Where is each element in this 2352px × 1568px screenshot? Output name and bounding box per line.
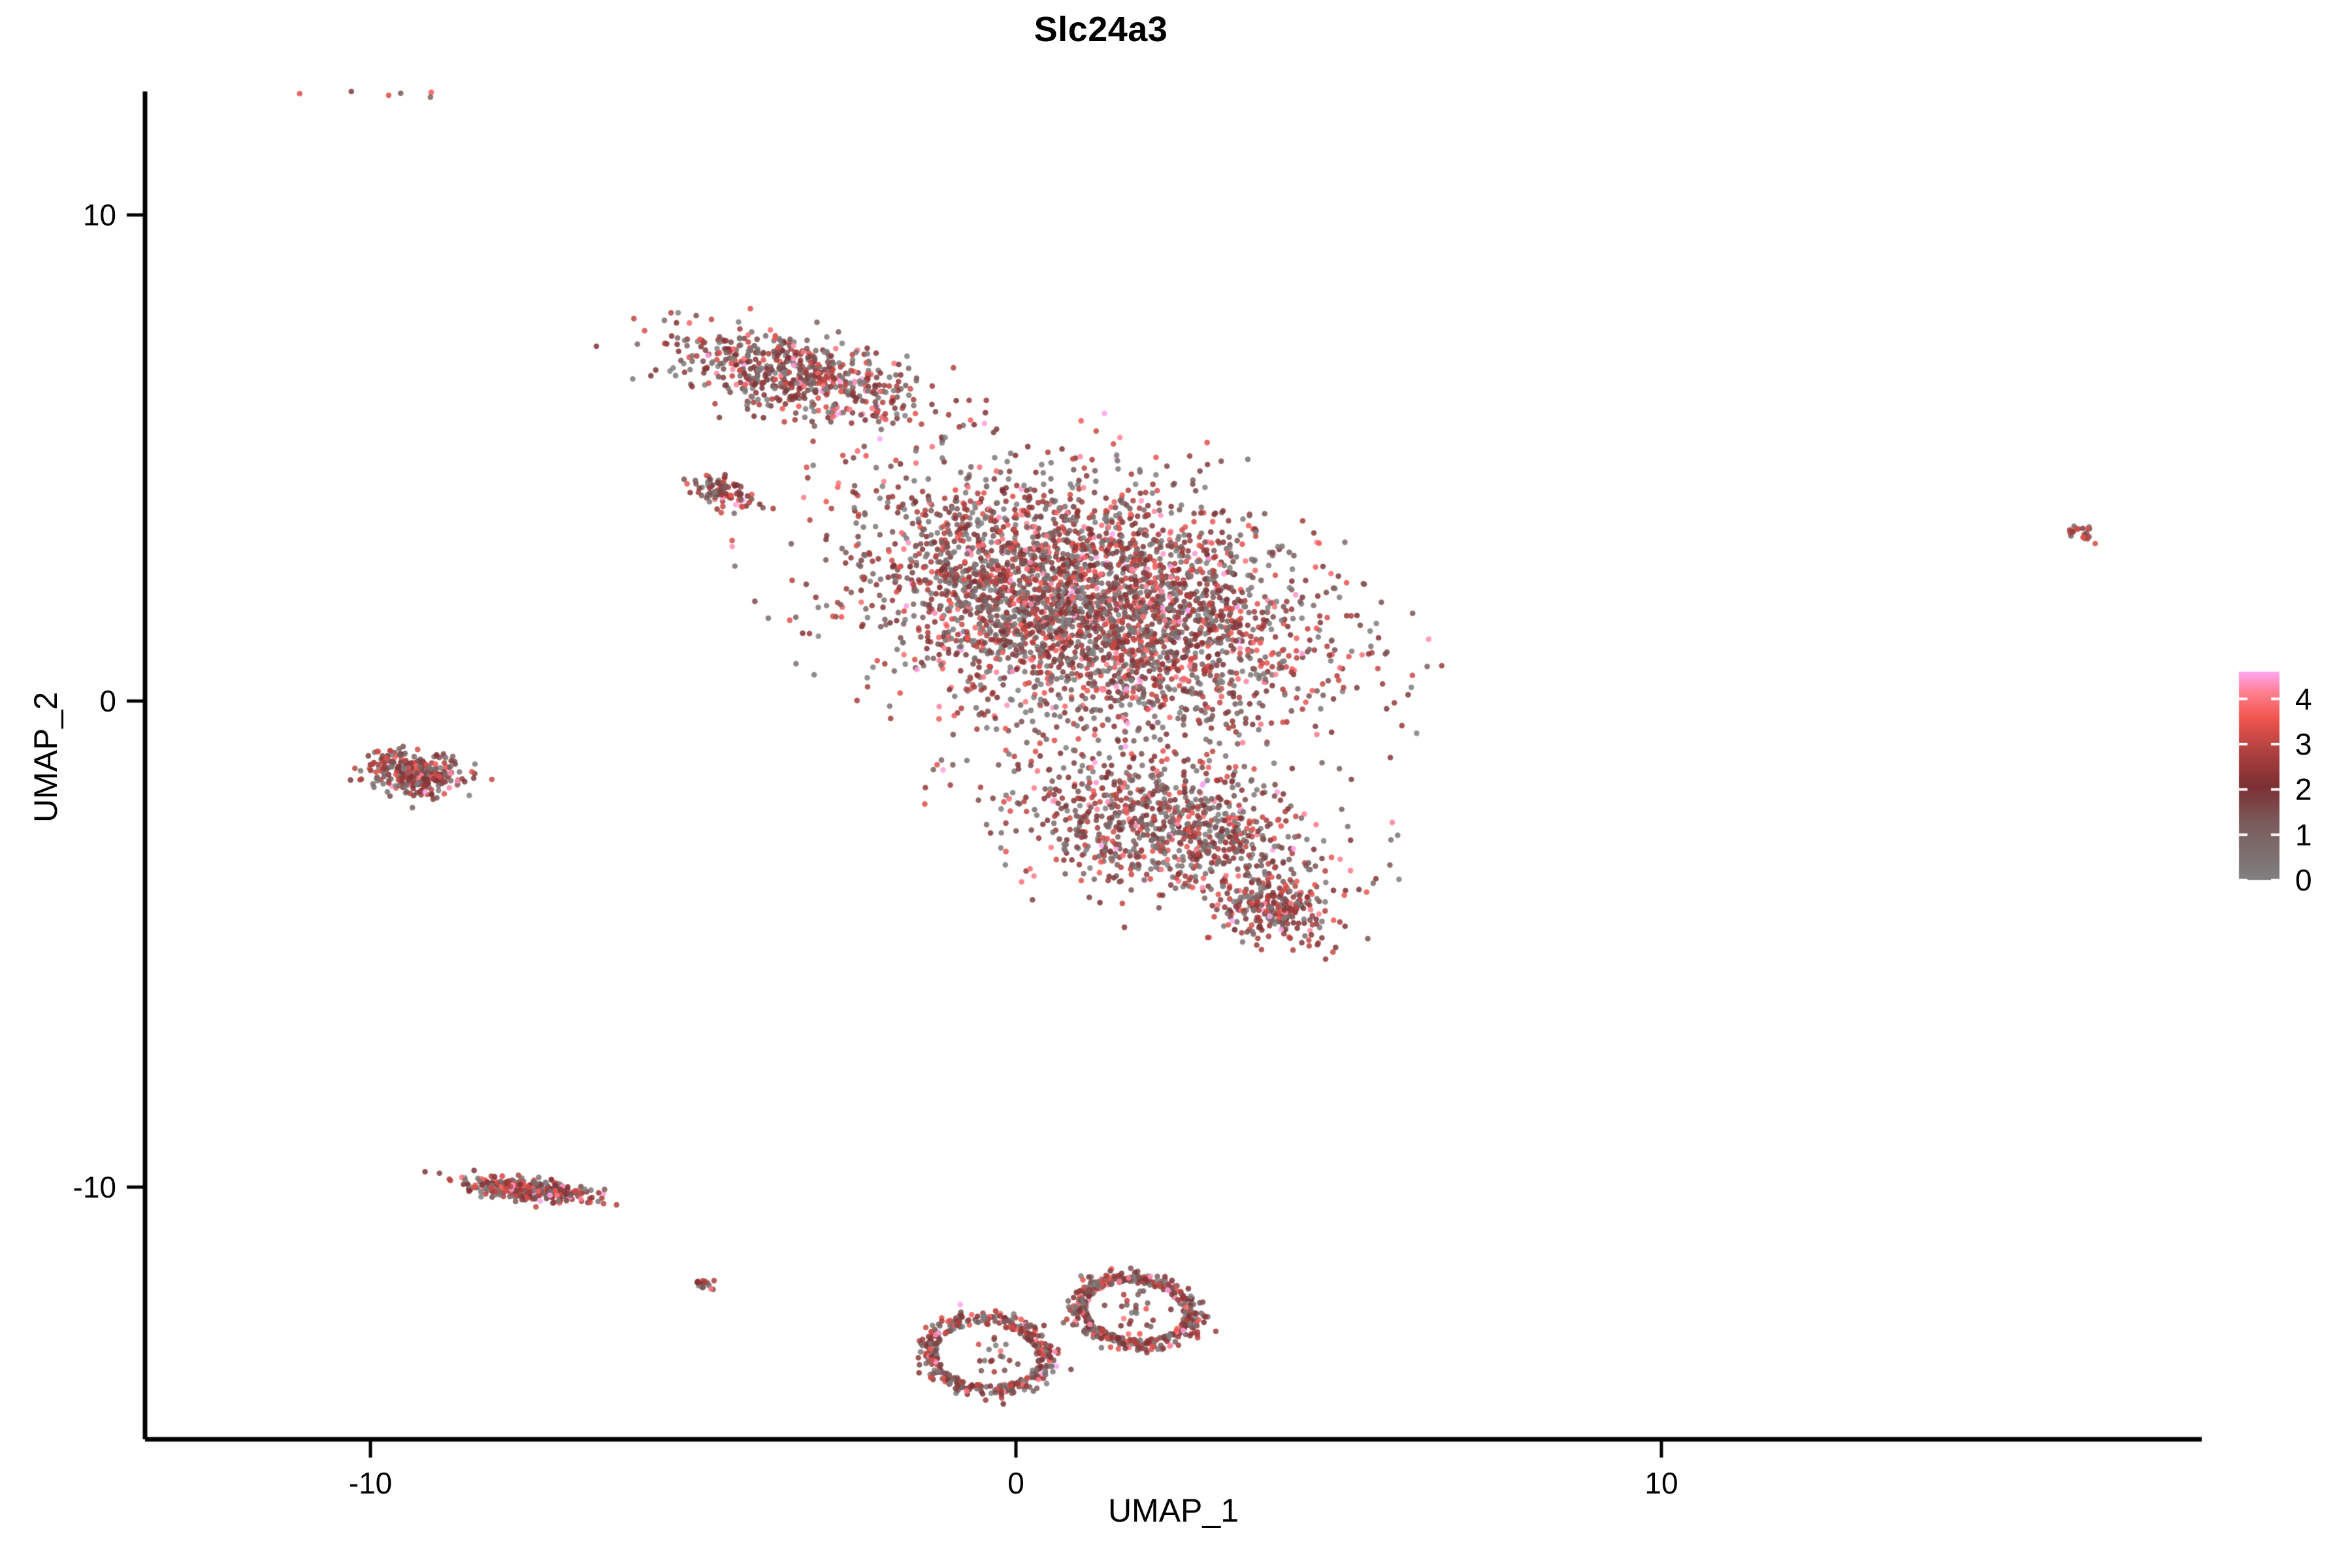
- y-tick-label: 0: [99, 683, 116, 719]
- legend-tick-label: 0: [2295, 862, 2312, 898]
- legend-tick-label: 3: [2295, 727, 2312, 762]
- y-axis-title: UMAP_2: [27, 496, 65, 1019]
- x-tick-label: 10: [1644, 1465, 1678, 1501]
- x-axis-title: UMAP_1: [145, 1492, 2202, 1529]
- y-tick-label: -10: [73, 1169, 116, 1205]
- umap-feature-plot: Slc24a3 UMAP_1 UMAP_2 -10010 100-10 4321…: [0, 0, 2352, 1568]
- page-title: Slc24a3: [0, 9, 2202, 50]
- legend-tick-label: 4: [2295, 681, 2312, 717]
- scatter-plot-canvas: [0, 0, 2352, 1568]
- legend-tick-label: 1: [2295, 817, 2312, 853]
- y-tick-label: 10: [83, 197, 116, 233]
- x-tick-label: 0: [1007, 1465, 1024, 1501]
- legend-tick-label: 2: [2295, 772, 2312, 807]
- x-tick-label: -10: [349, 1465, 392, 1501]
